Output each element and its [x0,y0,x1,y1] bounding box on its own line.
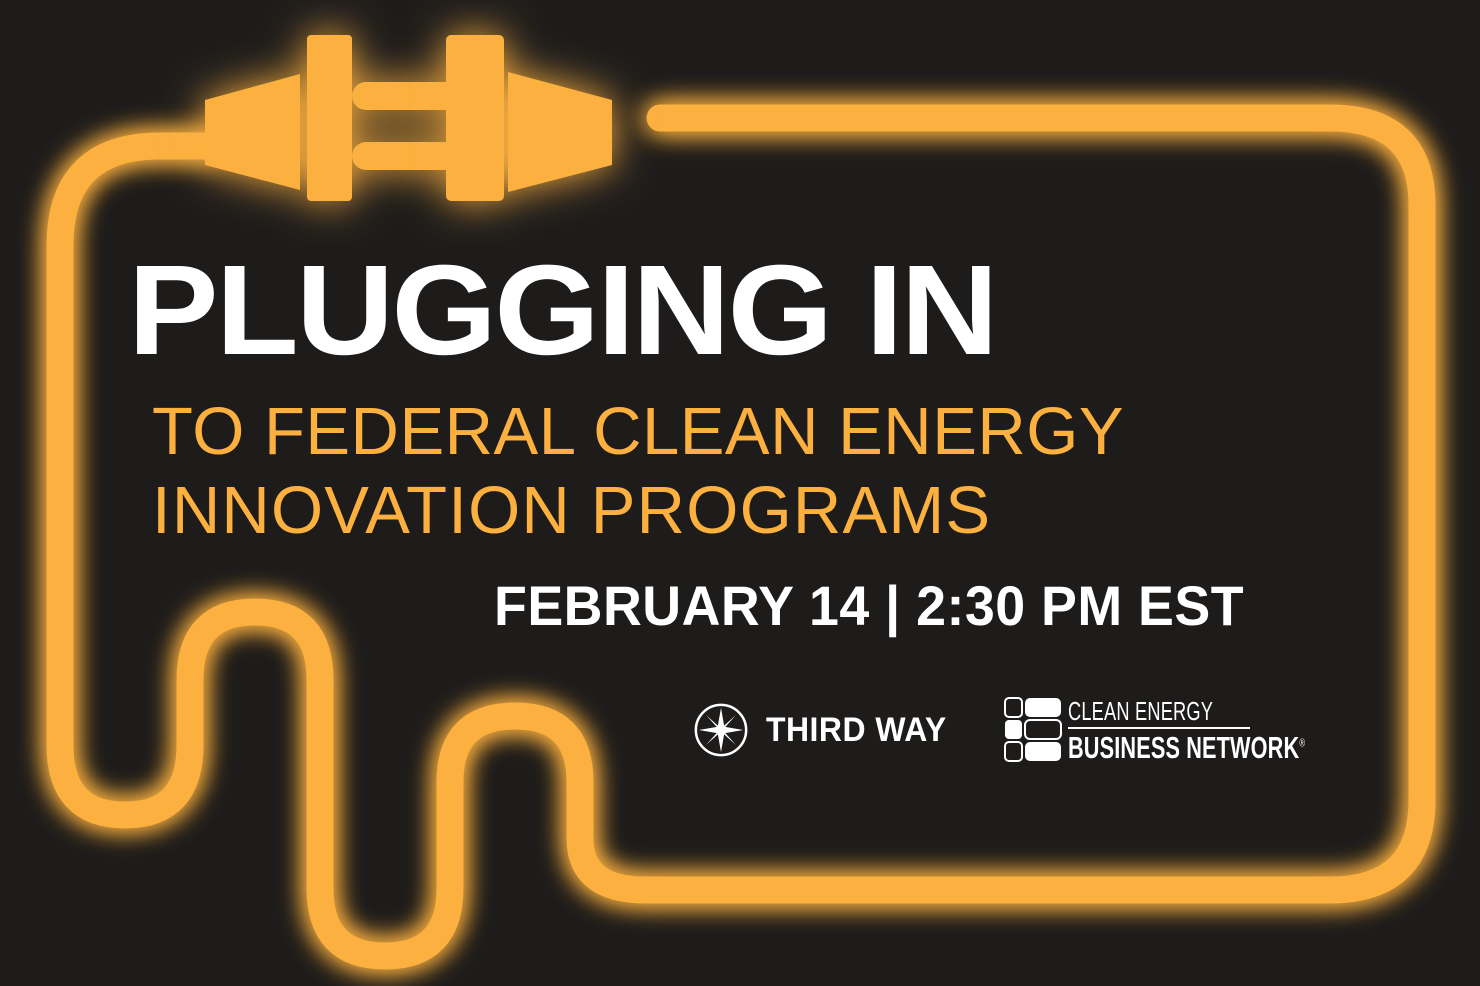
cebn-line-2-text: BUSINESS NETWORK [1068,730,1299,765]
cebn-text: CLEAN ENERGY BUSINESS NETWORK® [1068,698,1407,763]
third-way-wordmark: THIRD WAY [766,711,947,750]
cebn-trademark: ® [1299,737,1305,749]
compass-star-icon [692,701,750,759]
cebn-logo: CLEAN ENERGY BUSINESS NETWORK® [1004,697,1407,763]
third-way-logo: THIRD WAY [692,701,958,759]
blocks-grid-icon [1004,697,1062,763]
subtitle-line-1: TO FEDERAL CLEAN ENERGY [152,392,1392,471]
page-title: PLUGGING IN [128,252,1453,370]
cebn-line-1: CLEAN ENERGY [1068,698,1305,724]
cebn-divider [1068,727,1250,729]
logo-row: THIRD WAY CLEAN ENERGY [692,690,1407,770]
subtitle-line-2: INNOVATION PROGRAMS [152,471,1392,550]
poster-content: PLUGGING IN TO FEDERAL CLEAN ENERGY INNO… [0,0,1480,986]
event-datetime: FEBRUARY 14 | 2:30 PM EST [494,573,1244,638]
cebn-line-2: BUSINESS NETWORK® [1068,732,1305,763]
subtitle: TO FEDERAL CLEAN ENERGY INNOVATION PROGR… [152,392,1392,550]
promo-poster: PLUGGING IN TO FEDERAL CLEAN ENERGY INNO… [0,0,1480,986]
